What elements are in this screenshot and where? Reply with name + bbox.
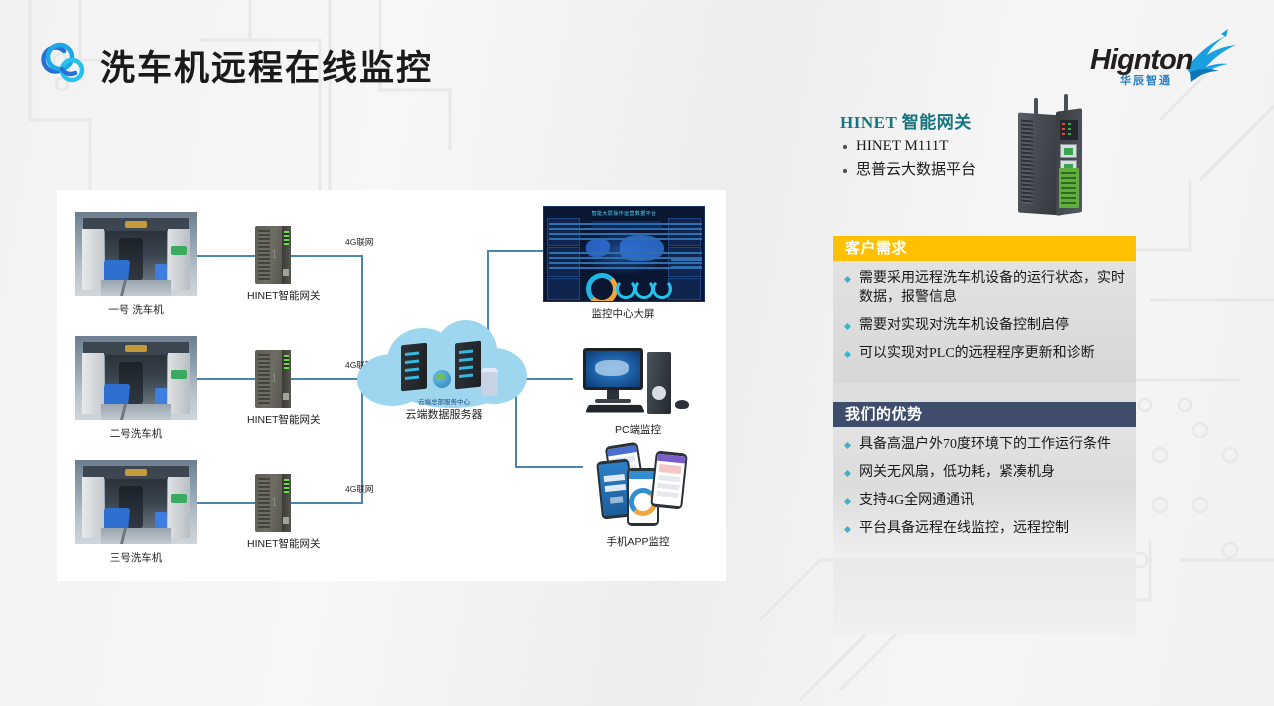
gateway-device-3: 1 [255, 474, 291, 532]
bullet-item: 支持4G全网通通讯 [845, 492, 1126, 511]
diamond-bullet-icon [844, 526, 851, 533]
gateway-intro-block: HINET 智能网关 HINET M111T 思普云大数据平台 [833, 108, 1153, 182]
link-label-4g: 4G联网 [345, 236, 373, 248]
washer-caption: 二号洗车机 [75, 426, 197, 441]
connector-line [487, 250, 543, 252]
connector-line [189, 255, 255, 257]
diamond-bullet-icon [844, 470, 851, 477]
terminal-block [1059, 168, 1079, 208]
bullet-item: 平台具备远程在线监控，远程控制 [845, 520, 1126, 539]
connector-line [291, 502, 363, 504]
gateway-heading: HINET 智能网关 [840, 108, 1153, 133]
our-advantages-card: 我们的优势 具备高温户外70度环境下的工作运行条件 网关无风扇，低功耗，紧凑机身… [833, 402, 1136, 558]
bullet-item: 具备高温户外70度环境下的工作运行条件 [845, 436, 1126, 455]
gateway-device-1: 1 [255, 226, 291, 284]
diamond-bullet-icon [844, 351, 851, 358]
washer-caption: 一号 洗车机 [75, 302, 197, 317]
diamond-bullet-icon [844, 442, 851, 449]
bullet-item: 需要对实现对洗车机设备控制启停 [845, 317, 1126, 336]
connector-line [189, 502, 255, 504]
diamond-bullet-icon [844, 276, 851, 283]
dashboard-title: 智能大屏操作运营数据平台 [544, 210, 704, 217]
diamond-bullet-icon [844, 323, 851, 330]
right-info-column: HINET 智能网关 HINET M111T 思普云大数据平台 [833, 0, 1274, 706]
bullet-dot-icon [843, 145, 847, 149]
pc-monitoring-node: PC端监控 [583, 348, 693, 416]
card-body: 具备高温户外70度环境下的工作运行条件 网关无风扇，低功耗，紧凑机身 支持4G全… [833, 427, 1136, 558]
washer-caption: 三号洗车机 [75, 550, 197, 565]
endpoint-caption: 监控中心大屏 [543, 306, 703, 321]
washer-photo [75, 212, 197, 296]
cloud-server-node: 云端总部服务中心 [357, 318, 532, 413]
diamond-bullet-icon [844, 498, 851, 505]
industrial-gateway-device-photo [1016, 98, 1088, 218]
server-rack-icon [455, 341, 481, 390]
page-title: 洗车机远程在线监控 [100, 40, 433, 91]
card-header-title: 我们的优势 [833, 402, 1136, 427]
card-body: 需要采用远程洗车机设备的运行状态，实时数据，报警信息 需要对实现对洗车机设备控制… [833, 261, 1136, 383]
washer-photo [75, 336, 197, 420]
endpoint-caption: PC端监控 [583, 422, 693, 437]
connector-line [291, 255, 363, 257]
bullet-item: 需要采用远程洗车机设备的运行状态，实时数据，报警信息 [845, 270, 1126, 308]
mobile-app-node: 手机APP监控 [583, 444, 693, 528]
ethernet-port-icon [1060, 144, 1077, 158]
mouse-icon [675, 400, 689, 409]
gateway-device-2: 1 [255, 350, 291, 408]
database-icon [481, 368, 498, 396]
server-rack-icon [401, 343, 427, 392]
bullet-item: 可以实现对PLC的远程程序更新和诊断 [845, 345, 1126, 364]
bullet-item: 网关无风扇，低功耗，紧凑机身 [845, 464, 1126, 483]
connector-line [291, 378, 363, 380]
tower-icon [647, 352, 671, 414]
double-ring-logo-icon [38, 38, 88, 90]
gateway-item: HINET M111T [843, 138, 1153, 155]
connector-line [189, 378, 255, 380]
led-indicator-panel [1060, 120, 1078, 140]
gateway-caption: HINET智能网关 [247, 288, 299, 303]
gateway-item: 思普云大数据平台 [843, 158, 1153, 179]
cloud-inner-label: 云端总部服务中心 [379, 396, 509, 406]
bullet-dot-icon [843, 169, 847, 173]
link-label-4g: 4G联网 [345, 483, 373, 495]
phone-mockup [650, 450, 688, 509]
gateway-caption: HINET智能网关 [247, 536, 299, 551]
globe-icon [433, 370, 451, 388]
endpoint-caption: 手机APP监控 [583, 534, 693, 549]
gateway-caption: HINET智能网关 [247, 412, 299, 427]
washer-photo [75, 460, 197, 544]
dashboard-screen: 智能大屏操作运营数据平台 [543, 206, 705, 302]
architecture-diagram-panel: 一号 洗车机 1 HINET智能网关 4G联网 二号洗车机 1 HINET智能网… [57, 190, 726, 581]
card-header-title: 客户需求 [833, 236, 1136, 261]
monitor-icon [583, 348, 643, 390]
customer-requirements-card: 客户需求 需要采用远程洗车机设备的运行状态，实时数据，报警信息 需要对实现对洗车… [833, 236, 1136, 383]
connector-line [515, 466, 583, 468]
cloud-caption: 云端数据服务器 [359, 406, 529, 422]
